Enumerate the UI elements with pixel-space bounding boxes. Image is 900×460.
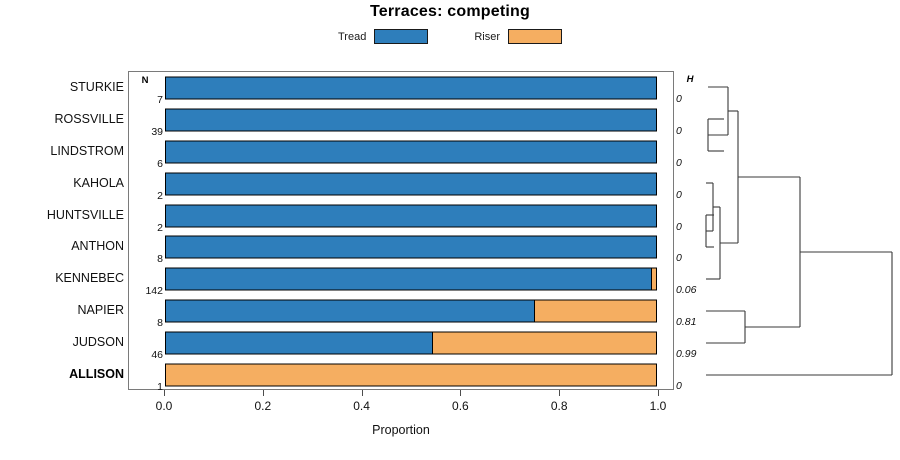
dendrogram-svg bbox=[700, 71, 900, 390]
y-axis-label: NAPIER bbox=[0, 303, 124, 317]
y-axis-label: ALLISON bbox=[0, 367, 124, 381]
legend-entry-tread: Tread bbox=[338, 29, 428, 44]
stacked-bar bbox=[165, 204, 657, 227]
bar-segment-tread bbox=[166, 173, 656, 194]
table-row bbox=[165, 263, 657, 295]
legend-entry-riser: Riser bbox=[474, 29, 562, 44]
plot-panel: N 73962281428461 bbox=[128, 71, 674, 390]
x-axis-tick-label: 0.0 bbox=[141, 399, 187, 413]
n-value: 8 bbox=[129, 253, 163, 265]
y-axis-label: KENNEBEC bbox=[0, 271, 124, 285]
n-column: N 73962281428461 bbox=[129, 72, 165, 389]
stacked-bar bbox=[165, 300, 657, 323]
y-axis-label: JUDSON bbox=[0, 335, 124, 349]
x-axis-tick-label: 0.8 bbox=[536, 399, 582, 413]
n-value: 6 bbox=[129, 158, 163, 170]
n-value: 142 bbox=[129, 285, 163, 297]
table-row bbox=[165, 104, 657, 136]
legend-swatch-tread bbox=[374, 29, 428, 44]
x-axis-tick-label: 1.0 bbox=[635, 399, 681, 413]
table-row bbox=[165, 359, 657, 391]
chart-root: Terraces: competing Tread Riser STURKIER… bbox=[0, 0, 900, 460]
table-row bbox=[165, 136, 657, 168]
n-value: 2 bbox=[129, 190, 163, 202]
x-axis-tick bbox=[263, 390, 264, 396]
stacked-bar bbox=[165, 332, 657, 355]
n-value: 46 bbox=[129, 349, 163, 361]
dendrogram bbox=[700, 71, 900, 390]
table-row bbox=[165, 200, 657, 232]
n-value: 7 bbox=[129, 94, 163, 106]
legend-label-tread: Tread bbox=[338, 31, 366, 43]
x-axis-title: Proportion bbox=[128, 423, 674, 437]
legend: Tread Riser bbox=[0, 29, 900, 44]
legend-label-riser: Riser bbox=[474, 31, 500, 43]
stacked-bar bbox=[165, 76, 657, 99]
x-axis: Proportion 0.00.20.40.60.81.0 bbox=[128, 390, 674, 460]
table-row bbox=[165, 327, 657, 359]
n-column-header: N bbox=[128, 75, 162, 86]
y-axis-label: STURKIE bbox=[0, 80, 124, 94]
stacked-bar bbox=[165, 140, 657, 163]
bar-segment-tread bbox=[166, 109, 656, 130]
n-value: 39 bbox=[129, 126, 163, 138]
legend-swatch-riser bbox=[508, 29, 562, 44]
table-row bbox=[165, 72, 657, 104]
y-axis-label: ROSSVILLE bbox=[0, 112, 124, 126]
bar-segment-tread bbox=[166, 301, 534, 322]
n-value: 2 bbox=[129, 222, 163, 234]
bar-segment-tread bbox=[166, 141, 656, 162]
stacked-bar bbox=[165, 108, 657, 131]
table-row bbox=[165, 168, 657, 200]
stacked-bar bbox=[165, 364, 657, 387]
y-axis-label: KAHOLA bbox=[0, 176, 124, 190]
stacked-bar bbox=[165, 268, 657, 291]
x-axis-tick-label: 0.6 bbox=[437, 399, 483, 413]
bar-segment-riser bbox=[166, 365, 656, 386]
bar-segment-tread bbox=[166, 269, 651, 290]
x-axis-tick-label: 0.4 bbox=[339, 399, 385, 413]
x-axis-tick bbox=[559, 390, 560, 396]
bar-segment-tread bbox=[166, 77, 656, 98]
x-axis-tick bbox=[164, 390, 165, 396]
x-axis-tick bbox=[362, 390, 363, 396]
y-axis-label: ANTHON bbox=[0, 239, 124, 253]
n-value: 8 bbox=[129, 317, 163, 329]
x-axis-tick-label: 0.2 bbox=[240, 399, 286, 413]
x-axis-tick bbox=[658, 390, 659, 396]
chart-title: Terraces: competing bbox=[0, 3, 900, 21]
stacked-bar bbox=[165, 172, 657, 195]
y-axis-labels: STURKIEROSSVILLELINDSTROMKAHOLAHUNTSVILL… bbox=[0, 71, 124, 390]
bar-segment-riser bbox=[432, 333, 656, 354]
x-axis-tick bbox=[460, 390, 461, 396]
table-row bbox=[165, 295, 657, 327]
y-axis-label: LINDSTROM bbox=[0, 144, 124, 158]
bar-segment-riser bbox=[651, 269, 656, 290]
bar-segment-tread bbox=[166, 205, 656, 226]
bar-segment-tread bbox=[166, 333, 432, 354]
stacked-bar bbox=[165, 236, 657, 259]
bar-segment-riser bbox=[534, 301, 657, 322]
bar-segment-tread bbox=[166, 237, 656, 258]
y-axis-label: HUNTSVILLE bbox=[0, 208, 124, 222]
bars-area bbox=[165, 72, 657, 389]
table-row bbox=[165, 232, 657, 264]
